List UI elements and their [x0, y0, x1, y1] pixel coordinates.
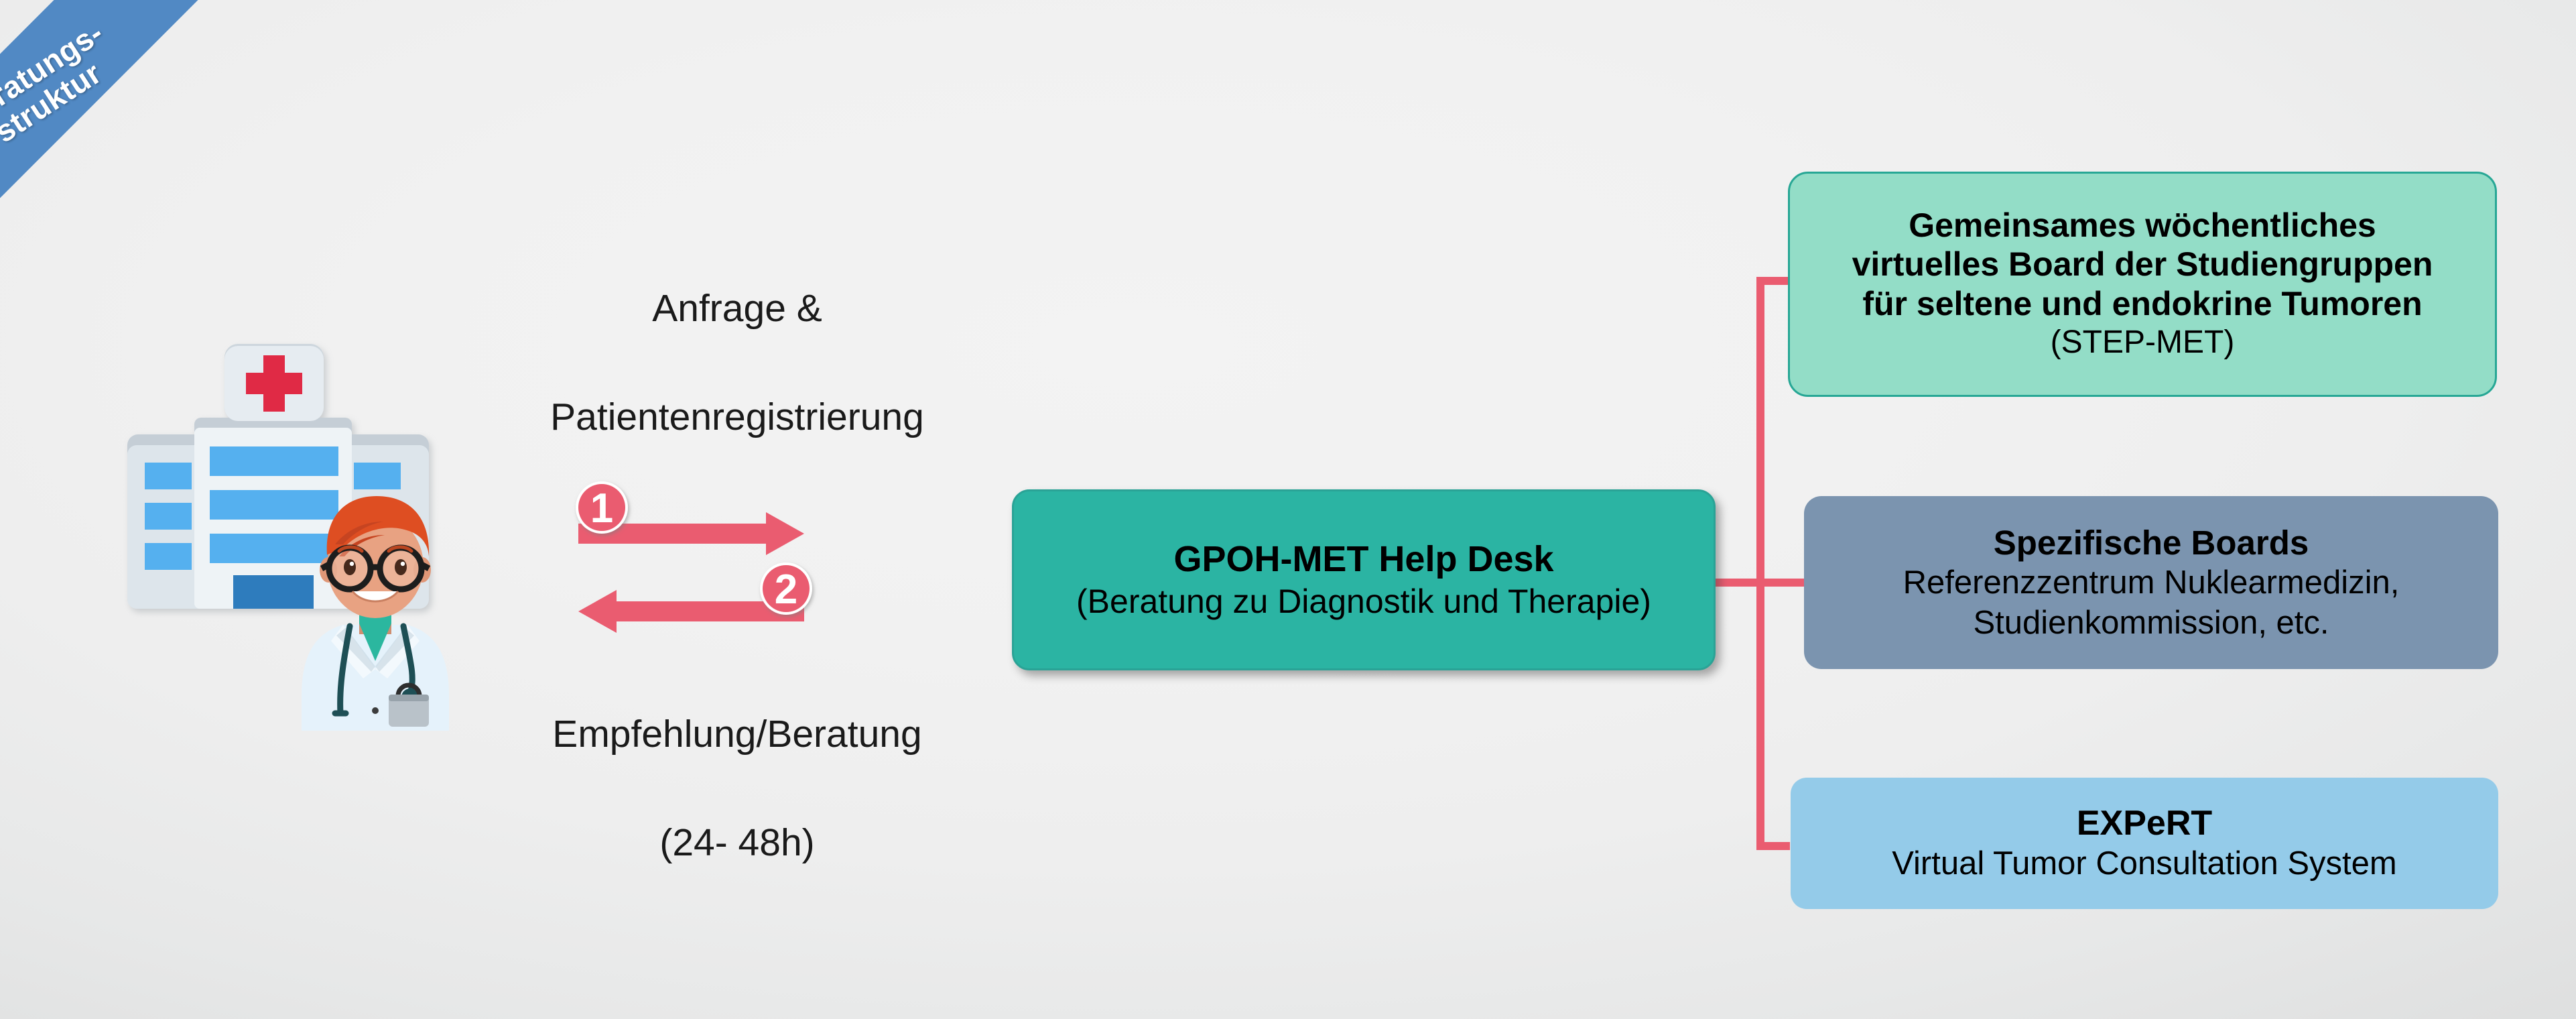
- node-expert-subtitle: Virtual Tumor Consultation System: [1892, 844, 2396, 884]
- node-stepmet-subtitle: (STEP-MET): [2051, 323, 2235, 363]
- node-step-met-board[interactable]: Gemeinsames wöchentliches virtuelles Boa…: [1788, 172, 2497, 397]
- step-badge-1-number: 1: [590, 485, 613, 532]
- node-boards-title: Spezifische Boards: [1994, 522, 2309, 563]
- node-stepmet-title: Gemeinsames wöchentliches virtuelles Boa…: [1852, 206, 2433, 324]
- advice-flow-label: Empfehlung/Beratung (24- 48h): [456, 707, 1019, 870]
- hospital-with-doctor-illustration: [101, 320, 482, 743]
- node-expert-system[interactable]: EXPeRT Virtual Tumor Consultation System: [1791, 778, 2498, 909]
- node-boards-subtitle: Referenzzentrum Nuklearmedizin, Studienk…: [1903, 563, 2400, 644]
- ribbon-label: Beratungs- struktur: [0, 16, 127, 162]
- step-badge-2-number: 2: [775, 566, 797, 613]
- node-expert-title: EXPeRT: [2077, 802, 2212, 844]
- request-flow-label: Anfrage & Patientenregistrierung: [456, 282, 1019, 444]
- corner-ribbon: Beratungs- struktur: [0, 0, 315, 315]
- node-helpdesk-title: GPOH-MET Help Desk: [1173, 538, 1553, 581]
- node-spezifische-boards[interactable]: Spezifische Boards Referenzzentrum Nukle…: [1804, 496, 2498, 669]
- exchange-arrows: 1 2: [509, 469, 978, 664]
- slide-canvas: Beratungs- struktur: [0, 0, 2576, 1019]
- node-helpdesk-subtitle: (Beratung zu Diagnostik und Therapie): [1076, 581, 1651, 622]
- ribbon-band: Beratungs- struktur: [0, 0, 258, 315]
- node-gpoh-met-help-desk[interactable]: GPOH-MET Help Desk (Beratung zu Diagnost…: [1012, 489, 1716, 670]
